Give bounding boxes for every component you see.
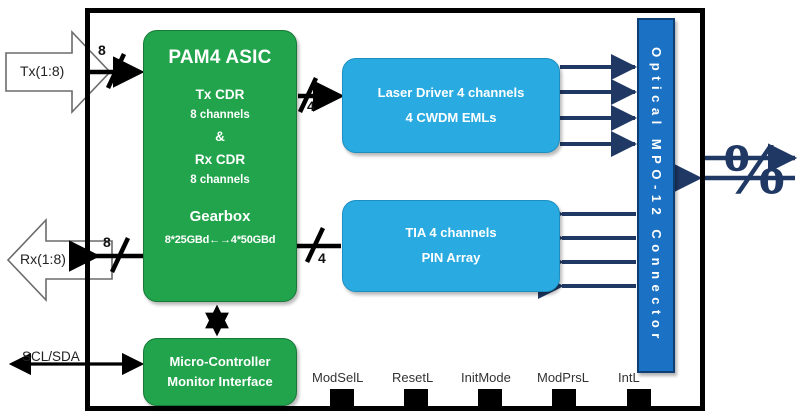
pin-pad-modprsl[interactable]	[552, 389, 576, 407]
pin-label-modprsl: ModPrsL	[537, 370, 589, 385]
asic-gearbox-detail: 8*25GBd←→4*50GBd	[165, 234, 276, 246]
tx-port-label: Tx(1:8)	[20, 63, 64, 79]
mpo-connector-label: Optical MPO-12 Connector	[649, 47, 664, 344]
asic-rx-cdr-channels: 8 channels	[190, 174, 249, 186]
micro-controller-block[interactable]: Micro-Controller Monitor Interface	[143, 338, 297, 406]
asic-title: PAM4 ASIC	[168, 47, 271, 69]
block-diagram-canvas: PAM4 ASIC Tx CDR 8 channels & Rx CDR 8 c…	[0, 0, 800, 419]
asic-tx-cdr-label: Tx CDR	[196, 87, 245, 102]
tia-block[interactable]: TIA 4 channels PIN Array	[342, 200, 560, 292]
pam4-asic-block[interactable]: PAM4 ASIC Tx CDR 8 channels & Rx CDR 8 c…	[143, 30, 297, 302]
pin-label-intl: IntL	[618, 370, 640, 385]
pin-pad-intl[interactable]	[627, 389, 651, 407]
tia-line-1: TIA 4 channels	[405, 221, 496, 246]
pin-label-modsell: ModSelL	[312, 370, 363, 385]
rx-bus-width-label: 8	[103, 234, 111, 250]
laser-driver-block[interactable]: Laser Driver 4 channels 4 CWDM EMLs	[342, 58, 560, 153]
asic-tx-cdr-channels: 8 channels	[190, 109, 249, 121]
mcu-line-2: Monitor Interface	[167, 372, 272, 392]
laser-driver-line-1: Laser Driver 4 channels	[378, 81, 525, 106]
pin-pad-modsell[interactable]	[330, 389, 354, 407]
asic-rx-cdr-label: Rx CDR	[195, 152, 245, 167]
rx-lane-width-label: 4	[318, 250, 326, 266]
tx-bus-width-label: 8	[98, 42, 106, 58]
laser-driver-line-2: 4 CWDM EMLs	[406, 106, 497, 131]
i2c-bus-label: SCL/SDA	[22, 349, 80, 364]
optical-mpo-connector[interactable]: Optical MPO-12 Connector	[637, 18, 675, 373]
rx-port-label: Rx(1:8)	[20, 251, 66, 267]
pin-pad-initmode[interactable]	[478, 389, 502, 407]
tia-line-2: PIN Array	[422, 246, 481, 271]
pin-label-initmode: InitMode	[461, 370, 511, 385]
fiber-percent-icon: %	[718, 133, 790, 205]
asic-ampersand: &	[215, 129, 225, 144]
tx-lane-width-label: 4	[307, 98, 315, 114]
mcu-line-1: Micro-Controller	[169, 352, 270, 372]
pin-label-resetl: ResetL	[392, 370, 433, 385]
pin-pad-resetl[interactable]	[404, 389, 428, 407]
module-bottom-edge	[85, 406, 705, 411]
asic-gearbox-label: Gearbox	[190, 208, 251, 225]
